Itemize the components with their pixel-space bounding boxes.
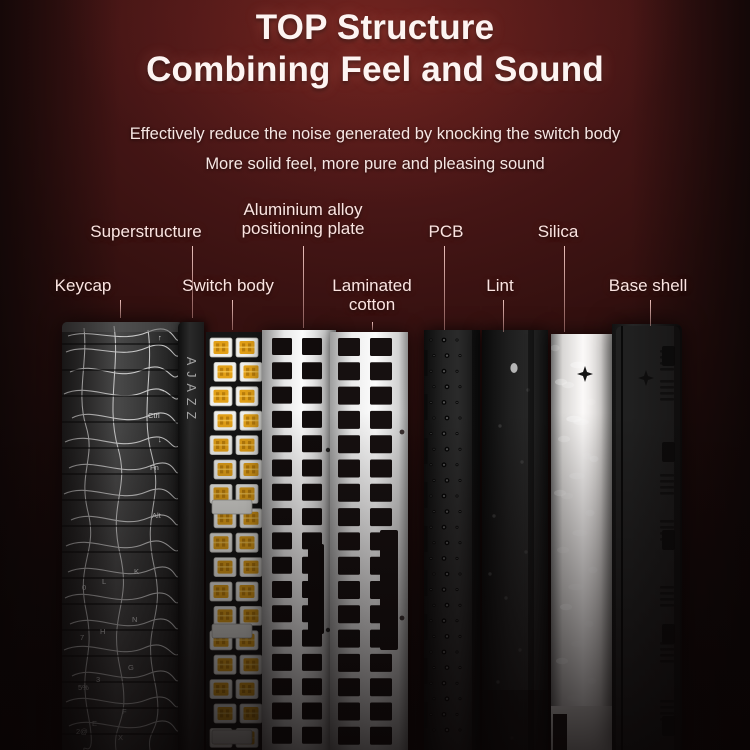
svg-text:G: G <box>128 663 134 672</box>
callout-label-silica: Silica <box>538 222 579 241</box>
svg-text:L: L <box>102 577 106 586</box>
callout-label-lint: Lint <box>486 276 513 295</box>
svg-text:↑: ↑ <box>158 333 162 342</box>
svg-text:→: → <box>158 385 166 394</box>
layer-keycap: ↑→↓ CtrlFnAlt KNG FX LH3 E07 5%2@ <box>62 322 182 750</box>
svg-text:E: E <box>92 719 97 728</box>
leader-line-switch-body <box>232 300 233 330</box>
product-infographic: TOP Structure Combining Feel and Sound E… <box>0 0 750 750</box>
base-shell-icon <box>612 324 682 750</box>
layer-base-shell <box>612 324 682 750</box>
svg-text:7: 7 <box>80 633 84 642</box>
leader-line-pcb <box>444 246 445 330</box>
plate-cutouts-icon <box>262 330 336 750</box>
svg-text:N: N <box>132 615 137 624</box>
cotton-cutouts-icon <box>330 332 408 750</box>
svg-text:K: K <box>134 567 139 576</box>
leader-line-keycap <box>120 300 121 318</box>
leader-line-cotton <box>372 322 373 330</box>
svg-text:5%: 5% <box>78 683 89 692</box>
callout-label-superstructure: Superstructure <box>90 222 202 241</box>
svg-text:Fn: Fn <box>150 463 159 472</box>
svg-text:3: 3 <box>96 675 100 684</box>
callout-label-cotton: Laminated cotton <box>332 276 411 315</box>
layer-silica <box>551 334 615 750</box>
svg-text:H: H <box>100 627 105 636</box>
callout-label-base-shell: Base shell <box>609 276 687 295</box>
svg-text:2@: 2@ <box>76 727 88 736</box>
callout-label-plate: Aluminium alloy positioning plate <box>242 200 365 239</box>
svg-text:F: F <box>122 707 127 716</box>
leader-line-base-shell <box>650 300 651 326</box>
callout-label-keycap: Keycap <box>55 276 112 295</box>
svg-text:Alt: Alt <box>152 511 162 520</box>
pcb-pads-icon <box>424 330 480 750</box>
svg-text:0: 0 <box>82 583 86 592</box>
layer-laminated-cotton <box>330 332 408 750</box>
subtitle-line-1: Effectively reduce the noise generated b… <box>0 125 750 144</box>
keycap-side-rail: AJAZZ <box>178 322 204 750</box>
svg-text:↓: ↓ <box>158 435 162 444</box>
switch-array-icon <box>206 332 268 750</box>
headline-line-1: TOP Structure <box>0 8 750 48</box>
silica-pad-icon <box>551 334 615 750</box>
leader-line-plate <box>303 246 304 328</box>
svg-text:Ctrl: Ctrl <box>148 411 160 420</box>
layer-switch-body <box>206 332 268 750</box>
keycap-texture-icon: ↑→↓ CtrlFnAlt KNG FX LH3 E07 5%2@ <box>62 322 182 750</box>
layer-lint <box>482 330 548 750</box>
subtitle-line-2: More solid feel, more pure and pleasing … <box>0 155 750 174</box>
lint-sheet-icon <box>482 330 548 750</box>
svg-text:X: X <box>118 733 123 742</box>
brand-logo: AJAZZ <box>184 357 198 425</box>
leader-line-silica <box>564 246 565 332</box>
headline-line-2: Combining Feel and Sound <box>0 50 750 90</box>
callout-label-pcb: PCB <box>429 222 464 241</box>
layer-aluminium-plate <box>262 330 336 750</box>
callout-label-switch-body: Switch body <box>182 276 274 295</box>
leader-line-lint <box>503 300 504 332</box>
layer-pcb <box>424 330 480 750</box>
